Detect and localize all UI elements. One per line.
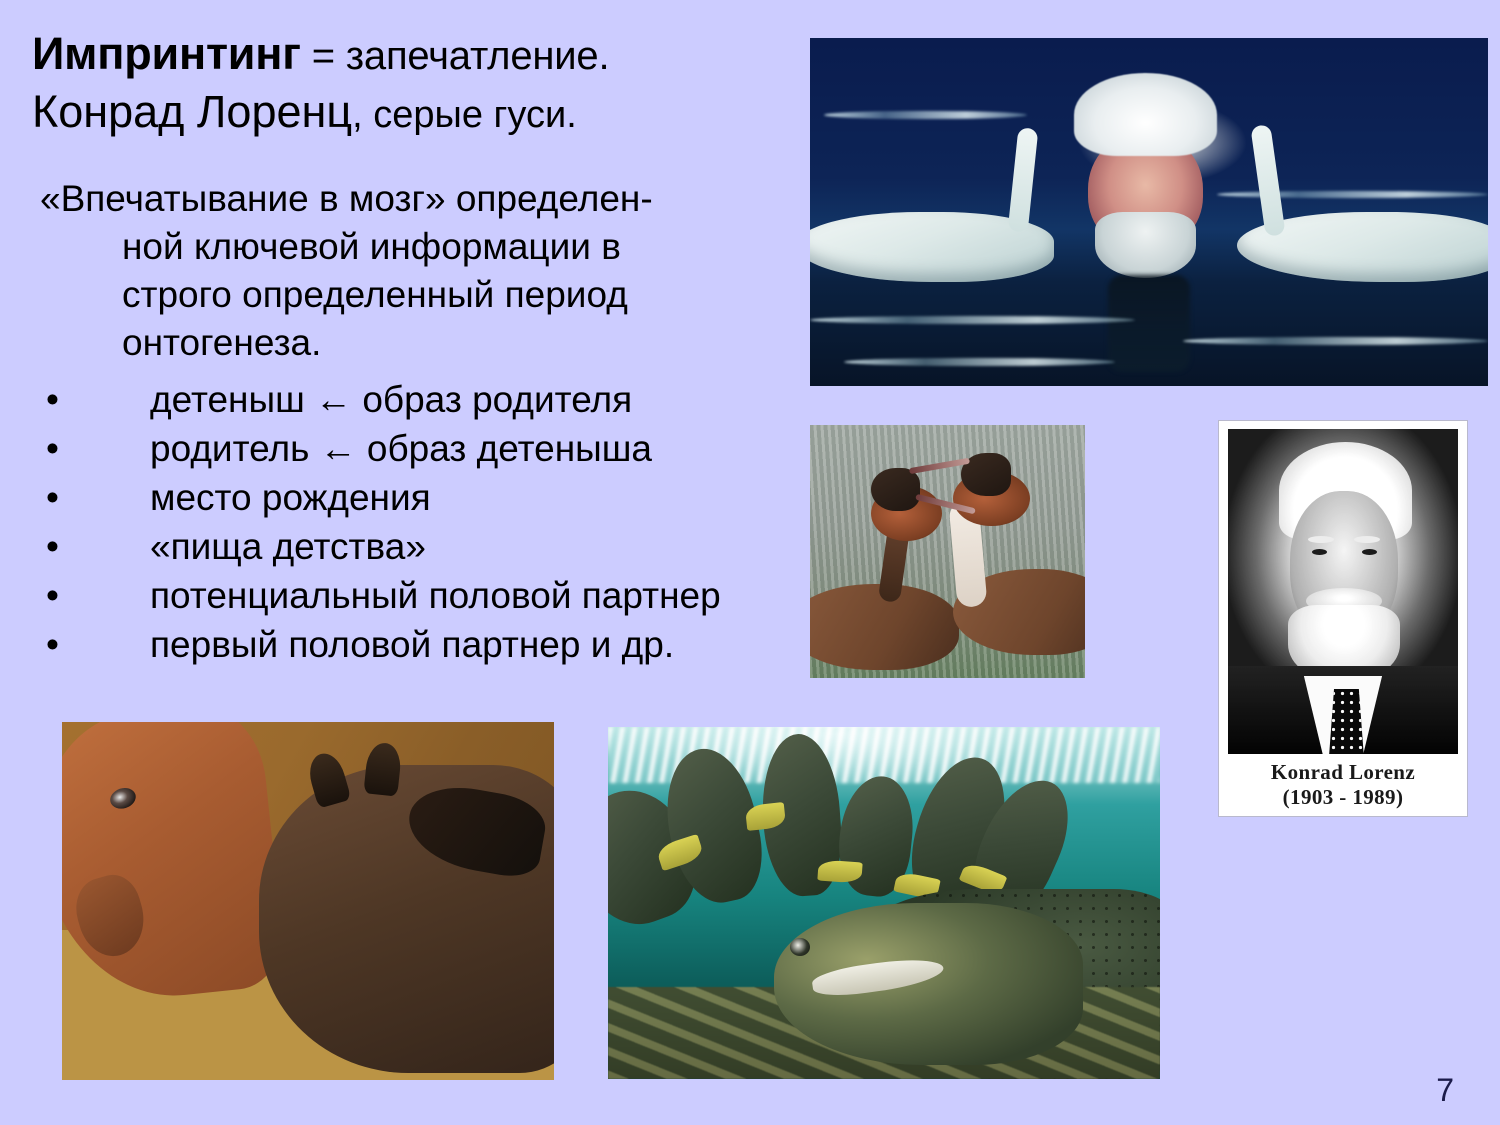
photo-content	[1228, 429, 1458, 754]
slide-title-line-2: Конрад Лоренц, серые гуси.	[32, 82, 792, 153]
list-item-label: первый половой партнер и др.	[150, 624, 674, 665]
bullet-marker-icon: •	[46, 375, 59, 424]
image-two-great-crested-grebes	[810, 425, 1085, 678]
list-item-label: родитель ← образ детеныша	[150, 428, 652, 469]
presentation-slide: Импринтинг = запечатление. Конрад Лоренц…	[0, 0, 1500, 1125]
portrait-caption-name: Konrad Lorenz	[1219, 760, 1467, 785]
bullet-marker-icon: •	[46, 522, 59, 571]
foal-mane	[402, 778, 550, 881]
list-item: • потенциальный половой партнер	[32, 571, 792, 620]
list-item-label: потенциальный половой партнер	[150, 575, 721, 616]
mare-eye	[108, 786, 139, 813]
list-item: • «пища детства»	[32, 522, 792, 571]
portrait-polka-dot-tie	[1329, 689, 1364, 754]
image-konrad-lorenz-portrait-framed: Konrad Lorenz (1903 - 1989)	[1218, 420, 1468, 817]
definition-line-2: ной ключевой информации в	[40, 223, 792, 271]
list-item: • место рождения	[32, 473, 792, 522]
image-salmon-school-underwater	[608, 727, 1160, 1079]
definition-line-4: онтогенеза.	[40, 319, 792, 367]
definition-paragraph: «Впечатывание в мозг» определен- ной клю…	[32, 175, 792, 367]
title-term: Импринтинг	[32, 28, 301, 79]
bullet-marker-icon: •	[46, 473, 59, 522]
slide-title-line-1: Импринтинг = запечатление.	[32, 26, 792, 84]
bullet-marker-icon: •	[46, 424, 59, 473]
title-author-suffix: , серые гуси.	[352, 94, 577, 136]
title-author-name: Конрад Лоренц	[32, 86, 352, 137]
list-item: • родитель ← образ детеныша	[32, 424, 792, 473]
page-number: 7	[1436, 1072, 1454, 1109]
portrait-caption: Konrad Lorenz (1903 - 1989)	[1219, 760, 1467, 810]
definition-line-1: «Впечатывание в мозг» определен-	[40, 175, 792, 223]
portrait-caption-years: (1903 - 1989)	[1219, 785, 1467, 810]
photo-content	[608, 727, 1160, 1079]
list-item-label: детеныш ← образ родителя	[150, 379, 632, 420]
list-item: • первый половой партнер и др.	[32, 620, 792, 669]
slide-text-column: Импринтинг = запечатление. Конрад Лоренц…	[32, 26, 792, 669]
imprinting-targets-list: • детеныш ← образ родителя • родитель ← …	[32, 375, 792, 669]
bullet-marker-icon: •	[46, 620, 59, 669]
title-equals-definition: = запечатление.	[301, 34, 610, 78]
list-item: • детеныш ← образ родителя	[32, 375, 792, 424]
image-mare-and-foal	[62, 722, 554, 1080]
definition-line-3: строго определенный период	[40, 271, 792, 319]
image-konrad-lorenz-swimming-with-geese	[810, 38, 1488, 386]
photo-content	[810, 38, 1488, 386]
foal-body	[259, 765, 554, 1073]
list-item-label: «пища детства»	[150, 526, 426, 567]
list-item-label: место рождения	[150, 477, 431, 518]
photo-content	[810, 425, 1085, 678]
photo-content	[62, 722, 554, 1080]
bullet-marker-icon: •	[46, 571, 59, 620]
